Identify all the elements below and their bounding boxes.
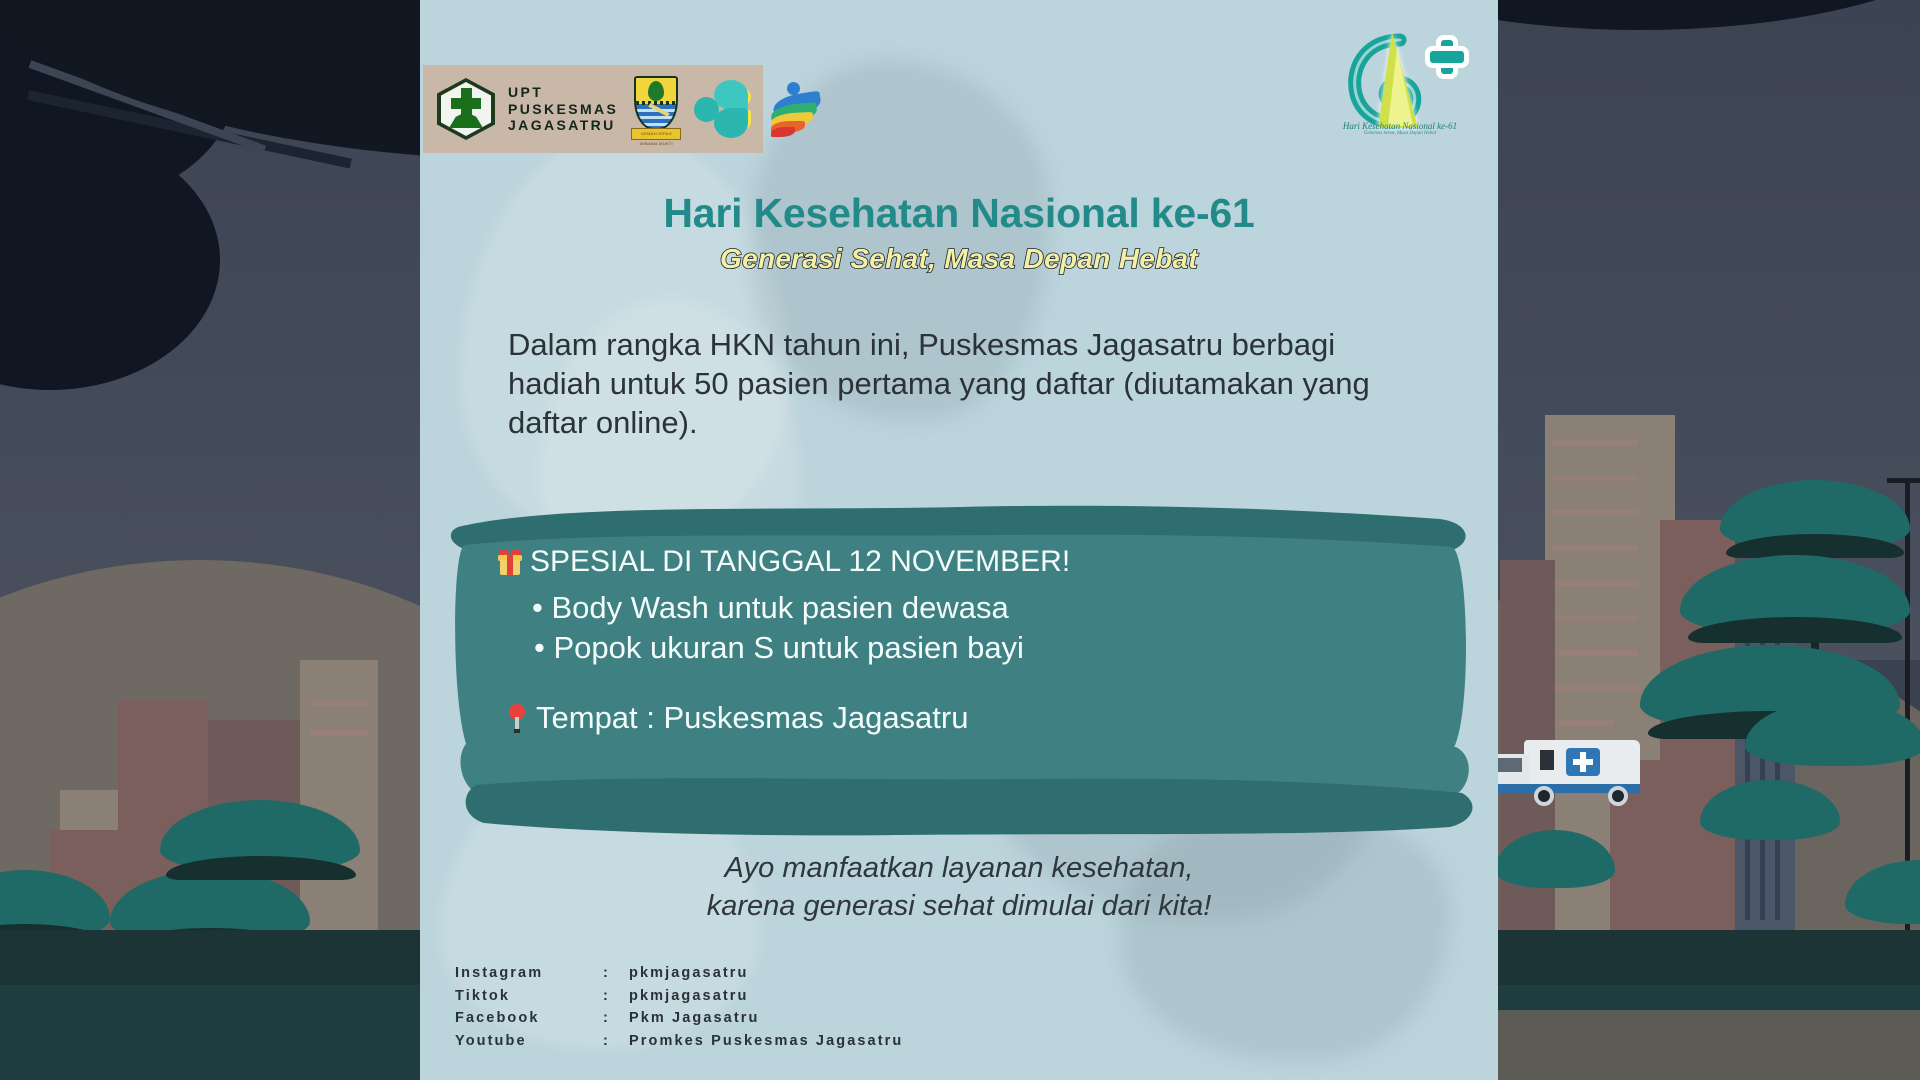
banner-place-row: Tempat : Puskesmas Jagasatru xyxy=(508,700,968,736)
social-row-facebook: Facebook : Pkm Jagasatru xyxy=(455,1007,903,1029)
banner-headline: SPESIAL DI TANGGAL 12 NOVEMBER! xyxy=(530,545,1070,579)
kemenkes-logo-icon xyxy=(694,80,752,138)
social-handle: pkmjagasatru xyxy=(629,962,749,984)
social-separator: : xyxy=(603,1030,629,1052)
banner-list-item: • Popok ukuran S untuk pasien bayi xyxy=(534,630,1024,666)
poster: UPTPUSKESMASJAGASATRU GEMAH RIPAH WIBAWA… xyxy=(420,0,1498,1080)
hkn-logo-caption: Hari Kesehatan Nasional ke-61 Generasi S… xyxy=(1334,121,1466,136)
social-media-list: Instagram : pkmjagasatru Tiktok : pkmjag… xyxy=(455,962,903,1052)
social-platform: Instagram xyxy=(455,962,603,984)
banner-headline-row: SPESIAL DI TANGGAL 12 NOVEMBER! xyxy=(498,545,1070,579)
logo-bar: UPTPUSKESMASJAGASATRU GEMAH RIPAH WIBAWA… xyxy=(423,65,763,153)
social-separator: : xyxy=(603,962,629,984)
crest-ribbon-text: GEMAH RIPAH WIBAWA MUKTI xyxy=(631,128,681,140)
social-platform: Tiktok xyxy=(455,985,603,1007)
social-row-youtube: Youtube : Promkes Puskesmas Jagasatru xyxy=(455,1030,903,1052)
page-title: Hari Kesehatan Nasional ke-61 xyxy=(420,190,1498,237)
logo-bar-label: UPTPUSKESMASJAGASATRU xyxy=(508,84,618,134)
social-row-instagram: Instagram : pkmjagasatru xyxy=(455,962,903,984)
germas-logo-icon xyxy=(765,80,823,138)
social-platform: Facebook xyxy=(455,1007,603,1029)
social-handle: Pkm Jagasatru xyxy=(629,1007,759,1029)
kota-bandung-crest-icon: GEMAH RIPAH WIBAWA MUKTI xyxy=(631,76,681,142)
gift-icon xyxy=(498,549,522,575)
social-separator: : xyxy=(603,1007,629,1029)
building-window-line xyxy=(1552,475,1638,481)
building-window-line xyxy=(310,700,368,706)
banner-place: Tempat : Puskesmas Jagasatru xyxy=(536,700,968,736)
building-window-line xyxy=(310,730,368,736)
upt-puskesmas-jagasatru-logo-icon xyxy=(437,78,495,140)
page-subtitle: Generasi Sehat, Masa Depan Hebat xyxy=(420,243,1498,275)
tree xyxy=(160,800,360,930)
closing-message: Ayo manfaatkan layanan kesehatan, karena… xyxy=(420,850,1498,925)
brush-banner: SPESIAL DI TANGGAL 12 NOVEMBER! • Body W… xyxy=(440,485,1480,845)
tree xyxy=(1495,830,1615,920)
building-window-line xyxy=(1552,440,1638,446)
plus-icon xyxy=(1430,40,1464,74)
body-paragraph: Dalam rangka HKN tahun ini, Puskesmas Ja… xyxy=(508,325,1408,442)
social-handle: pkmjagasatru xyxy=(629,985,749,1007)
building-window-line xyxy=(1552,685,1638,691)
building-window-line xyxy=(1552,650,1638,656)
closing-line-2: karena generasi sehat dimulai dari kita! xyxy=(420,888,1498,926)
social-platform: Youtube xyxy=(455,1030,603,1052)
location-pin-icon xyxy=(508,704,526,732)
building-window-line xyxy=(1552,615,1638,621)
social-separator: : xyxy=(603,985,629,1007)
tree xyxy=(1700,780,1840,870)
building-window-line xyxy=(1552,580,1638,586)
screenshot-root: UPTPUSKESMASJAGASATRU GEMAH RIPAH WIBAWA… xyxy=(0,0,1920,1080)
closing-line-1: Ayo manfaatkan layanan kesehatan, xyxy=(420,850,1498,888)
building-window-line xyxy=(1552,720,1614,726)
building-window-line xyxy=(1552,510,1638,516)
hkn-61-logo-icon: Hari Kesehatan Nasional ke-61 Generasi S… xyxy=(1330,18,1470,148)
ambulance-icon xyxy=(1490,740,1640,802)
building-window-line xyxy=(1552,545,1638,551)
banner-list-item: • Body Wash untuk pasien dewasa xyxy=(532,590,1009,626)
social-row-tiktok: Tiktok : pkmjagasatru xyxy=(455,985,903,1007)
social-handle: Promkes Puskesmas Jagasatru xyxy=(629,1030,903,1052)
